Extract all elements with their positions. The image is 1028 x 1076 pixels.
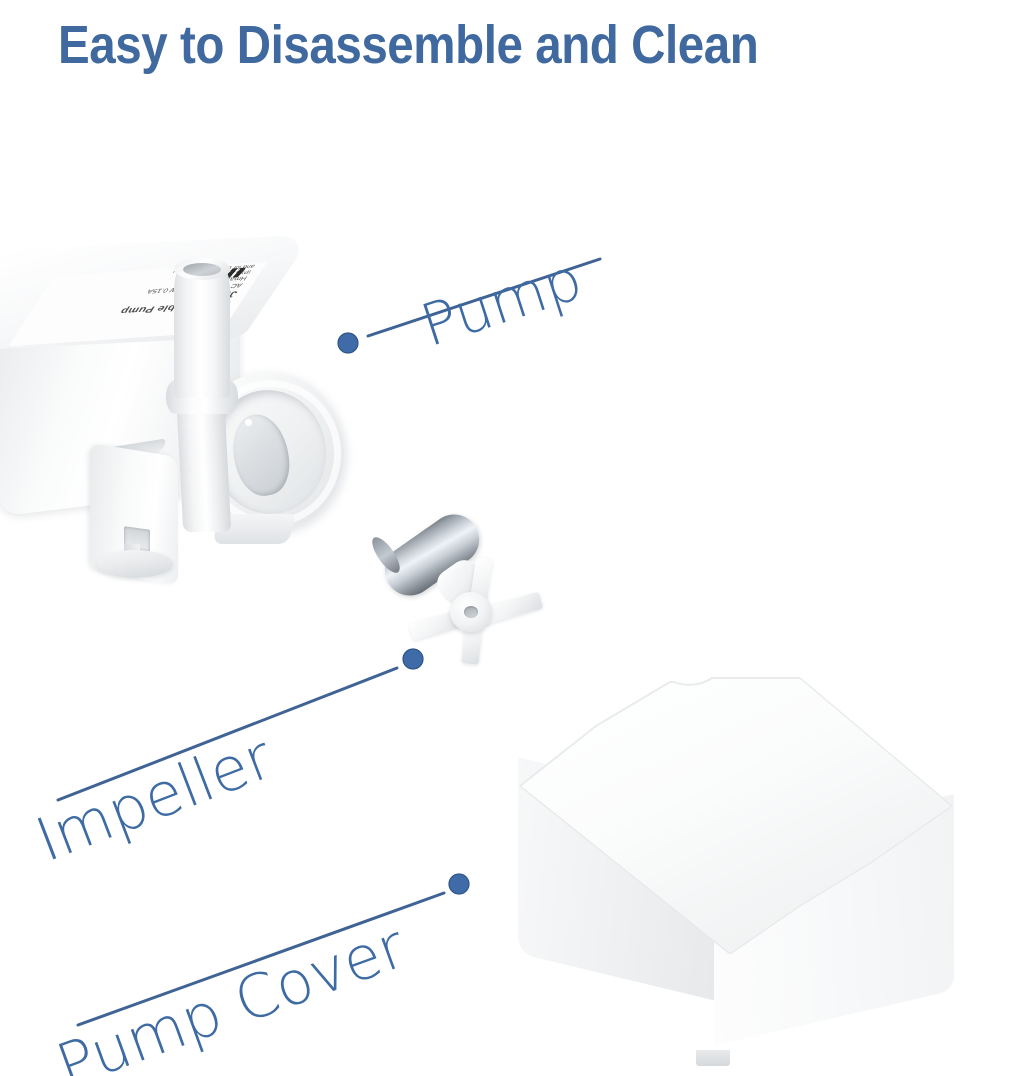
pump-cover-callout-dot-icon[interactable] (449, 874, 469, 894)
pump-cover-front-foot (696, 1050, 730, 1066)
pump-suction-cup-foot (97, 550, 173, 578)
pump-cover-top-face (500, 654, 970, 954)
pump-outlet-tube-bore (183, 263, 221, 276)
pump-outlet-tube (174, 266, 230, 398)
pump-outlet-tube-lower (177, 408, 231, 532)
page-title: Easy to Disassemble and Clean (58, 14, 762, 76)
infographic-canvas: Easy to Disassemble and Clean ▌▐ ▌▐ Subm… (0, 0, 1028, 1076)
impeller-hub-bore (464, 606, 478, 618)
pump-part-illustration: ▌▐ ▌▐ Submersible Pump JR-2200 AC 110V 6… (0, 232, 362, 580)
impeller-part-description: Metallic grey cylindrical magnet rotor a… (376, 516, 377, 517)
callout-label-pump: Pump (413, 245, 590, 360)
impeller-part-illustration: Metallic grey cylindrical magnet rotor a… (376, 516, 556, 666)
pump-cover-part-illustration: White box-shaped plastic cover with a se… (500, 654, 970, 1076)
callout-label-pump-cover: Pump Cover (48, 912, 414, 1076)
callout-label-impeller: Impeller (27, 722, 282, 876)
